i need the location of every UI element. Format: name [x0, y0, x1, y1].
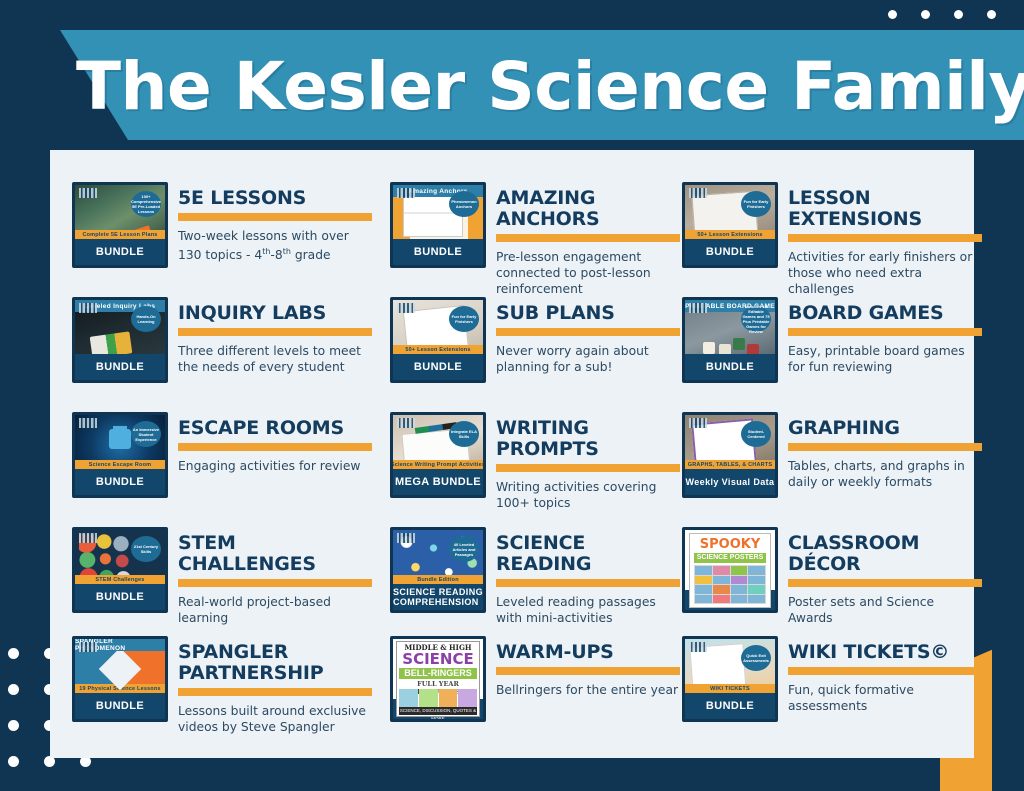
- product-description: Lessons built around exclusive videos by…: [178, 703, 372, 735]
- poster-cell: [713, 595, 730, 604]
- product-text-block: BOARD GAMESEasy, printable board games f…: [788, 297, 982, 383]
- poster-cell: [748, 576, 765, 585]
- title-underline-bar: [496, 579, 680, 587]
- kesler-science-logo-icon: [397, 418, 415, 428]
- product-thumbnail[interactable]: Integrate ELA SkillsScience Writing Prom…: [390, 412, 486, 498]
- poster-cell: [695, 566, 712, 575]
- title-underline-bar: [178, 213, 372, 221]
- product-description: Poster sets and Science Awards: [788, 594, 982, 626]
- product-title[interactable]: SCIENCE READING: [496, 533, 680, 575]
- poster-cell: [748, 585, 765, 594]
- product-thumbnail[interactable]: 100+ Comprehensive 5E Pre-Loaded Lessons…: [72, 182, 168, 268]
- thumbnail-strip-label: Complete 5E Lesson Plans: [75, 230, 165, 239]
- product-description: Easy, printable board games for fun revi…: [788, 343, 982, 375]
- poster-line-1: SPOOKY: [694, 537, 766, 552]
- product-text-block: GRAPHINGTables, charts, and graphs in da…: [788, 412, 982, 498]
- poster-cell: [731, 585, 748, 594]
- thumbnail-strip-label: WIKI TICKETS: [685, 684, 775, 693]
- product-description: Activities for early finishers or those …: [788, 249, 982, 297]
- product-thumbnail[interactable]: 21st Century SkillsSTEM ChallengesBUNDLE: [72, 527, 168, 613]
- page-title: The Kesler Science Family: [76, 44, 976, 130]
- decorative-navy-edge: [992, 636, 1024, 791]
- kesler-science-logo-icon: [79, 533, 97, 543]
- thumbnail-bundle-ribbon: BUNDLE: [75, 693, 165, 719]
- title-underline-bar: [178, 443, 372, 451]
- product-description: Real-world project-based learning: [178, 594, 372, 626]
- product-item[interactable]: SPANGLER PHENOMENON19 Physical Science L…: [72, 636, 372, 735]
- product-title[interactable]: INQUIRY LABS: [178, 303, 372, 324]
- kesler-science-logo-icon: [397, 533, 415, 543]
- product-title[interactable]: 5E LESSONS: [178, 188, 372, 209]
- thumbnail-bundle-ribbon: SCIENCE READING COMPREHENSION: [393, 584, 483, 610]
- product-text-block: SCIENCE READINGLeveled reading passages …: [496, 527, 680, 626]
- product-text-block: WRITING PROMPTSWriting activities coveri…: [496, 412, 680, 511]
- thumbnail-bundle-ribbon: MEGA BUNDLE: [393, 469, 483, 495]
- thumbnail-bundle-ribbon: Weekly Visual Data: [685, 469, 775, 495]
- product-text-block: SUB PLANSNever worry again about plannin…: [496, 297, 680, 383]
- poster-cell: [748, 595, 765, 604]
- title-underline-bar: [788, 328, 982, 336]
- product-description: Fun, quick formative assessments: [788, 682, 982, 714]
- thumbnail-badge: Phenomenon Anchors: [449, 191, 479, 217]
- product-thumbnail[interactable]: Student-CenteredGRAPHS, TABLES, & CHARTS…: [682, 412, 778, 498]
- product-item[interactable]: Quick Exit AssessmentsWIKI TICKETSBUNDLE…: [682, 636, 982, 722]
- product-thumbnail[interactable]: PRINTABLE BOARD GAMEIncludes 15 Editable…: [682, 297, 778, 383]
- title-underline-bar: [178, 328, 372, 336]
- thumbnail-badge: Fun for Early Finishers: [449, 306, 479, 332]
- product-text-block: ESCAPE ROOMSEngaging activities for revi…: [178, 412, 372, 498]
- poster-cell: [439, 689, 458, 707]
- product-thumbnail[interactable]: SPOOKYSCIENCE POSTERS: [682, 527, 778, 613]
- product-text-block: WARM-UPSBellringers for the entire year: [496, 636, 680, 722]
- thumbnail-strip-label: GRAPHS, TABLES, & CHARTS: [685, 460, 775, 469]
- dot: [954, 10, 963, 19]
- product-item[interactable]: Amazing AnchorsPhenomenon AnchorsBUNDLEA…: [390, 182, 680, 297]
- product-grid: 100+ Comprehensive 5E Pre-Loaded Lessons…: [50, 150, 974, 758]
- product-title[interactable]: LESSON EXTENSIONS: [788, 188, 982, 230]
- product-item[interactable]: MIDDLE & HIGHSCIENCEBELL-RINGERSFULL YEA…: [390, 636, 680, 722]
- product-item[interactable]: Fun for Early Finishers50+ Lesson Extens…: [390, 297, 680, 383]
- product-description: Two-week lessons with over 130 topics - …: [178, 228, 372, 263]
- kesler-science-logo-icon: [689, 418, 707, 428]
- product-item[interactable]: Integrate ELA SkillsScience Writing Prom…: [390, 412, 680, 511]
- product-thumbnail[interactable]: Amazing AnchorsPhenomenon AnchorsBUNDLE: [390, 182, 486, 268]
- thumbnail-badge: Quick Exit Assessments: [741, 645, 771, 671]
- thumbnail-badge: An Immersive Student Experience: [131, 421, 161, 447]
- product-text-block: WIKI TICKETS©Fun, quick formative assess…: [788, 636, 982, 722]
- poster-cell: [458, 689, 477, 707]
- product-title[interactable]: CLASSROOM DÉCOR: [788, 533, 982, 575]
- thumbnail-bundle-ribbon: BUNDLE: [685, 693, 775, 719]
- product-thumbnail[interactable]: MIDDLE & HIGHSCIENCEBELL-RINGERSFULL YEA…: [390, 636, 486, 722]
- thumbnail-strip-label: 50+ Lesson Extensions: [685, 230, 775, 239]
- title-underline-bar: [178, 579, 372, 587]
- product-item[interactable]: Student-CenteredGRAPHS, TABLES, & CHARTS…: [682, 412, 982, 498]
- decorative-dots-top-row1: [888, 10, 1018, 20]
- product-item[interactable]: Fun for Early Finishers50+ Lesson Extens…: [682, 182, 982, 297]
- product-title[interactable]: AMAZING ANCHORS: [496, 188, 680, 230]
- poster-cell: [399, 689, 418, 707]
- poster-thumbnail-grid: [694, 565, 766, 604]
- poster-cell: [713, 585, 730, 594]
- poster-cell: [713, 566, 730, 575]
- title-underline-bar: [496, 328, 680, 336]
- product-thumbnail[interactable]: Fun for Early Finishers50+ Lesson Extens…: [682, 182, 778, 268]
- product-thumbnail[interactable]: Fun for Early Finishers50+ Lesson Extens…: [390, 297, 486, 383]
- title-underline-bar: [496, 234, 680, 242]
- product-item[interactable]: 40 Leveled Articles and PassagesBundle E…: [390, 527, 680, 626]
- kesler-science-logo-icon: [79, 188, 97, 198]
- thumbnail-bundle-ribbon: BUNDLE: [75, 584, 165, 610]
- product-title[interactable]: WARM-UPS: [496, 642, 680, 663]
- poster-line-4: FULL YEAR RESOURCE: [399, 680, 477, 688]
- thumbnail-strip-label: 50+ Lesson Extensions: [393, 345, 483, 354]
- thumbnail-badge: 21st Century Skills: [131, 536, 161, 562]
- thumbnail-bundle-ribbon: BUNDLE: [75, 239, 165, 265]
- bellringer-poster-art: MIDDLE & HIGHSCIENCEBELL-RINGERSFULL YEA…: [396, 641, 480, 717]
- product-item[interactable]: PRINTABLE BOARD GAMEIncludes 15 Editable…: [682, 297, 982, 383]
- title-underline-bar: [788, 443, 982, 451]
- thumbnail-bundle-ribbon: BUNDLE: [685, 354, 775, 380]
- kesler-science-logo-icon: [397, 188, 415, 198]
- thumbnail-bundle-ribbon: BUNDLE: [75, 354, 165, 380]
- product-text-block: 5E LESSONSTwo-week lessons with over 130…: [178, 182, 372, 268]
- poster-line-2: SCIENCE: [399, 652, 477, 667]
- product-title[interactable]: SUB PLANS: [496, 303, 680, 324]
- product-title[interactable]: WRITING PROMPTS: [496, 418, 680, 460]
- title-underline-bar: [788, 234, 982, 242]
- poster-cell: [695, 595, 712, 604]
- title-underline-bar: [496, 667, 680, 675]
- dot: [987, 10, 996, 19]
- kesler-science-logo-icon: [689, 642, 707, 652]
- product-text-block: CLASSROOM DÉCORPoster sets and Science A…: [788, 527, 982, 626]
- product-description: Tables, charts, and graphs in daily or w…: [788, 458, 982, 490]
- thumbnail-badge: 100+ Comprehensive 5E Pre-Loaded Lessons: [131, 191, 161, 217]
- kesler-science-logo-icon: [689, 303, 707, 313]
- poster-cell: [695, 585, 712, 594]
- product-description: Pre-lesson engagement connected to post-…: [496, 249, 680, 297]
- product-thumbnail[interactable]: Quick Exit AssessmentsWIKI TICKETSBUNDLE: [682, 636, 778, 722]
- dot: [8, 684, 19, 695]
- product-item[interactable]: An Immersive Student ExperienceScience E…: [72, 412, 372, 498]
- title-underline-bar: [496, 464, 680, 472]
- product-thumbnail[interactable]: 40 Leveled Articles and PassagesBundle E…: [390, 527, 486, 613]
- thumbnail-bundle-ribbon: BUNDLE: [685, 239, 775, 265]
- dot: [8, 648, 19, 659]
- title-underline-bar: [788, 667, 982, 675]
- thumbnail-bundle-ribbon: BUNDLE: [393, 239, 483, 265]
- poster-thumbnail-grid: [399, 689, 477, 707]
- kesler-science-logo-icon: [79, 418, 97, 428]
- thumbnail-badge: Includes 15 Editable Games and 75 Plus P…: [741, 306, 771, 332]
- product-thumbnail[interactable]: An Immersive Student ExperienceScience E…: [72, 412, 168, 498]
- kesler-science-logo-icon: [397, 303, 415, 313]
- product-item[interactable]: SPOOKYSCIENCE POSTERSCLASSROOM DÉCORPost…: [682, 527, 982, 626]
- product-item[interactable]: Leveled Inquiry LabsHands-On LearningBUN…: [72, 297, 372, 383]
- thumbnail-strip-label: Science Escape Room: [75, 460, 165, 469]
- product-grid-card: 100+ Comprehensive 5E Pre-Loaded Lessons…: [50, 150, 974, 758]
- product-description: Engaging activities for review: [178, 458, 372, 474]
- product-title[interactable]: WIKI TICKETS©: [788, 642, 982, 663]
- product-description: Bellringers for the entire year: [496, 682, 680, 698]
- thumbnail-bundle-ribbon: BUNDLE: [393, 354, 483, 380]
- title-underline-bar: [178, 688, 372, 696]
- poster-cell: [731, 576, 748, 585]
- thumbnail-strip-label: STEM Challenges: [75, 575, 165, 584]
- product-description: Never worry again about planning for a s…: [496, 343, 680, 375]
- product-text-block: AMAZING ANCHORSPre-lesson engagement con…: [496, 182, 680, 297]
- product-title[interactable]: STEM CHALLENGES: [178, 533, 372, 575]
- product-item[interactable]: 21st Century SkillsSTEM ChallengesBUNDLE…: [72, 527, 372, 626]
- thumbnail-bundle-ribbon: BUNDLE: [75, 469, 165, 495]
- poster-footer: SCIENCE, DISCUSSION, QUOTES & MORE: [399, 707, 477, 715]
- dot: [888, 10, 897, 19]
- dot: [921, 10, 930, 19]
- product-thumbnail[interactable]: SPANGLER PHENOMENON19 Physical Science L…: [72, 636, 168, 722]
- spooky-poster-art: SPOOKYSCIENCE POSTERS: [689, 533, 771, 608]
- poster-line-3: BELL-RINGERS: [399, 668, 477, 679]
- product-text-block: LESSON EXTENSIONSActivities for early fi…: [788, 182, 982, 297]
- product-thumbnail[interactable]: Leveled Inquiry LabsHands-On LearningBUN…: [72, 297, 168, 383]
- product-description: Three different levels to meet the needs…: [178, 343, 372, 375]
- product-item[interactable]: 100+ Comprehensive 5E Pre-Loaded Lessons…: [72, 182, 372, 268]
- poster-line-2: SCIENCE POSTERS: [694, 553, 766, 563]
- thumbnail-strip-label: Science Writing Prompt Activities: [393, 460, 483, 469]
- title-underline-bar: [788, 579, 982, 587]
- poster-cell: [748, 566, 765, 575]
- poster-cell: [695, 576, 712, 585]
- poster-cell: [713, 576, 730, 585]
- poster-cell: [731, 566, 748, 575]
- product-text-block: SPANGLER PARTNERSHIPLessons built around…: [178, 636, 372, 735]
- product-title[interactable]: ESCAPE ROOMS: [178, 418, 372, 439]
- product-description: Leveled reading passages with mini-activ…: [496, 594, 680, 626]
- product-title[interactable]: BOARD GAMES: [788, 303, 982, 324]
- poster-cell: [419, 689, 438, 707]
- dot: [8, 756, 19, 767]
- product-title[interactable]: GRAPHING: [788, 418, 982, 439]
- poster-canvas: The Kesler Science Family 100+ Comprehen…: [0, 0, 1024, 791]
- thumbnail-badge: Student-Centered: [741, 421, 771, 447]
- thumbnail-badge: 40 Leveled Articles and Passages: [449, 536, 479, 562]
- product-title[interactable]: SPANGLER PARTNERSHIP: [178, 642, 372, 684]
- thumbnail-badge: Integrate ELA Skills: [449, 421, 479, 447]
- product-text-block: STEM CHALLENGESReal-world project-based …: [178, 527, 372, 626]
- product-text-block: INQUIRY LABSThree different levels to me…: [178, 297, 372, 383]
- thumbnail-badge: Fun for Early Finishers: [741, 191, 771, 217]
- dot: [8, 720, 19, 731]
- kesler-science-logo-icon: [79, 303, 97, 313]
- thumbnail-strip-label: Bundle Edition: [393, 575, 483, 584]
- poster-cell: [731, 595, 748, 604]
- kesler-science-logo-icon: [689, 188, 707, 198]
- product-description: Writing activities covering 100+ topics: [496, 479, 680, 511]
- kesler-science-logo-icon: [79, 642, 97, 652]
- thumbnail-badge: Hands-On Learning: [131, 306, 161, 332]
